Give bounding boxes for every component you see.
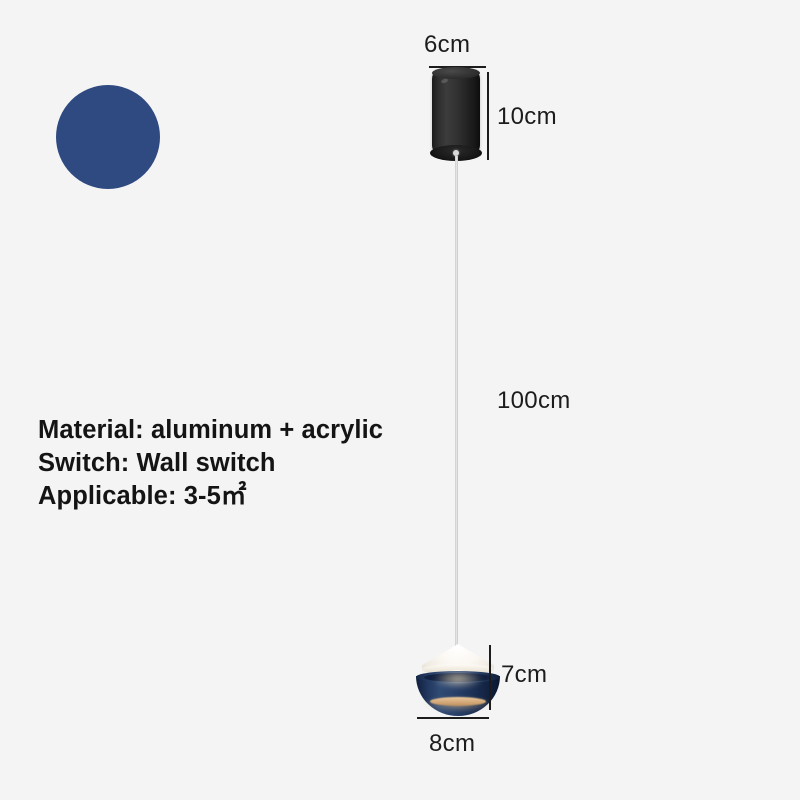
diagram-canvas: Material: aluminum + acrylic Switch: Wal… [0, 0, 800, 800]
dimension-label-canopy-height: 10cm [497, 103, 557, 131]
lamp-shade [404, 640, 512, 716]
specification-list: Material: aluminum + acrylic Switch: Wal… [38, 414, 458, 513]
spec-material: Material: aluminum + acrylic [38, 414, 458, 447]
canopy-highlight [441, 78, 449, 84]
dimension-label-shade-height: 7cm [501, 661, 547, 689]
spec-applicable: Applicable: 3-5㎡ [38, 480, 458, 513]
light-glow [430, 697, 486, 706]
spec-switch: Switch: Wall switch [38, 447, 458, 480]
dimension-rule-shade-height [489, 645, 491, 710]
dimension-label-shade-diameter: 8cm [429, 730, 475, 758]
canopy-top-cap [432, 67, 480, 79]
light-spill [434, 670, 482, 688]
dimension-rule-canopy-height [487, 72, 489, 160]
dimension-rule-shade-diameter [417, 717, 489, 719]
dimension-label-canopy-diameter: 6cm [424, 31, 470, 59]
suspension-cable [455, 156, 458, 648]
color-swatch-navy [56, 85, 160, 189]
lamp-canopy [432, 70, 480, 154]
dimension-label-cord-length: 100cm [497, 387, 571, 415]
